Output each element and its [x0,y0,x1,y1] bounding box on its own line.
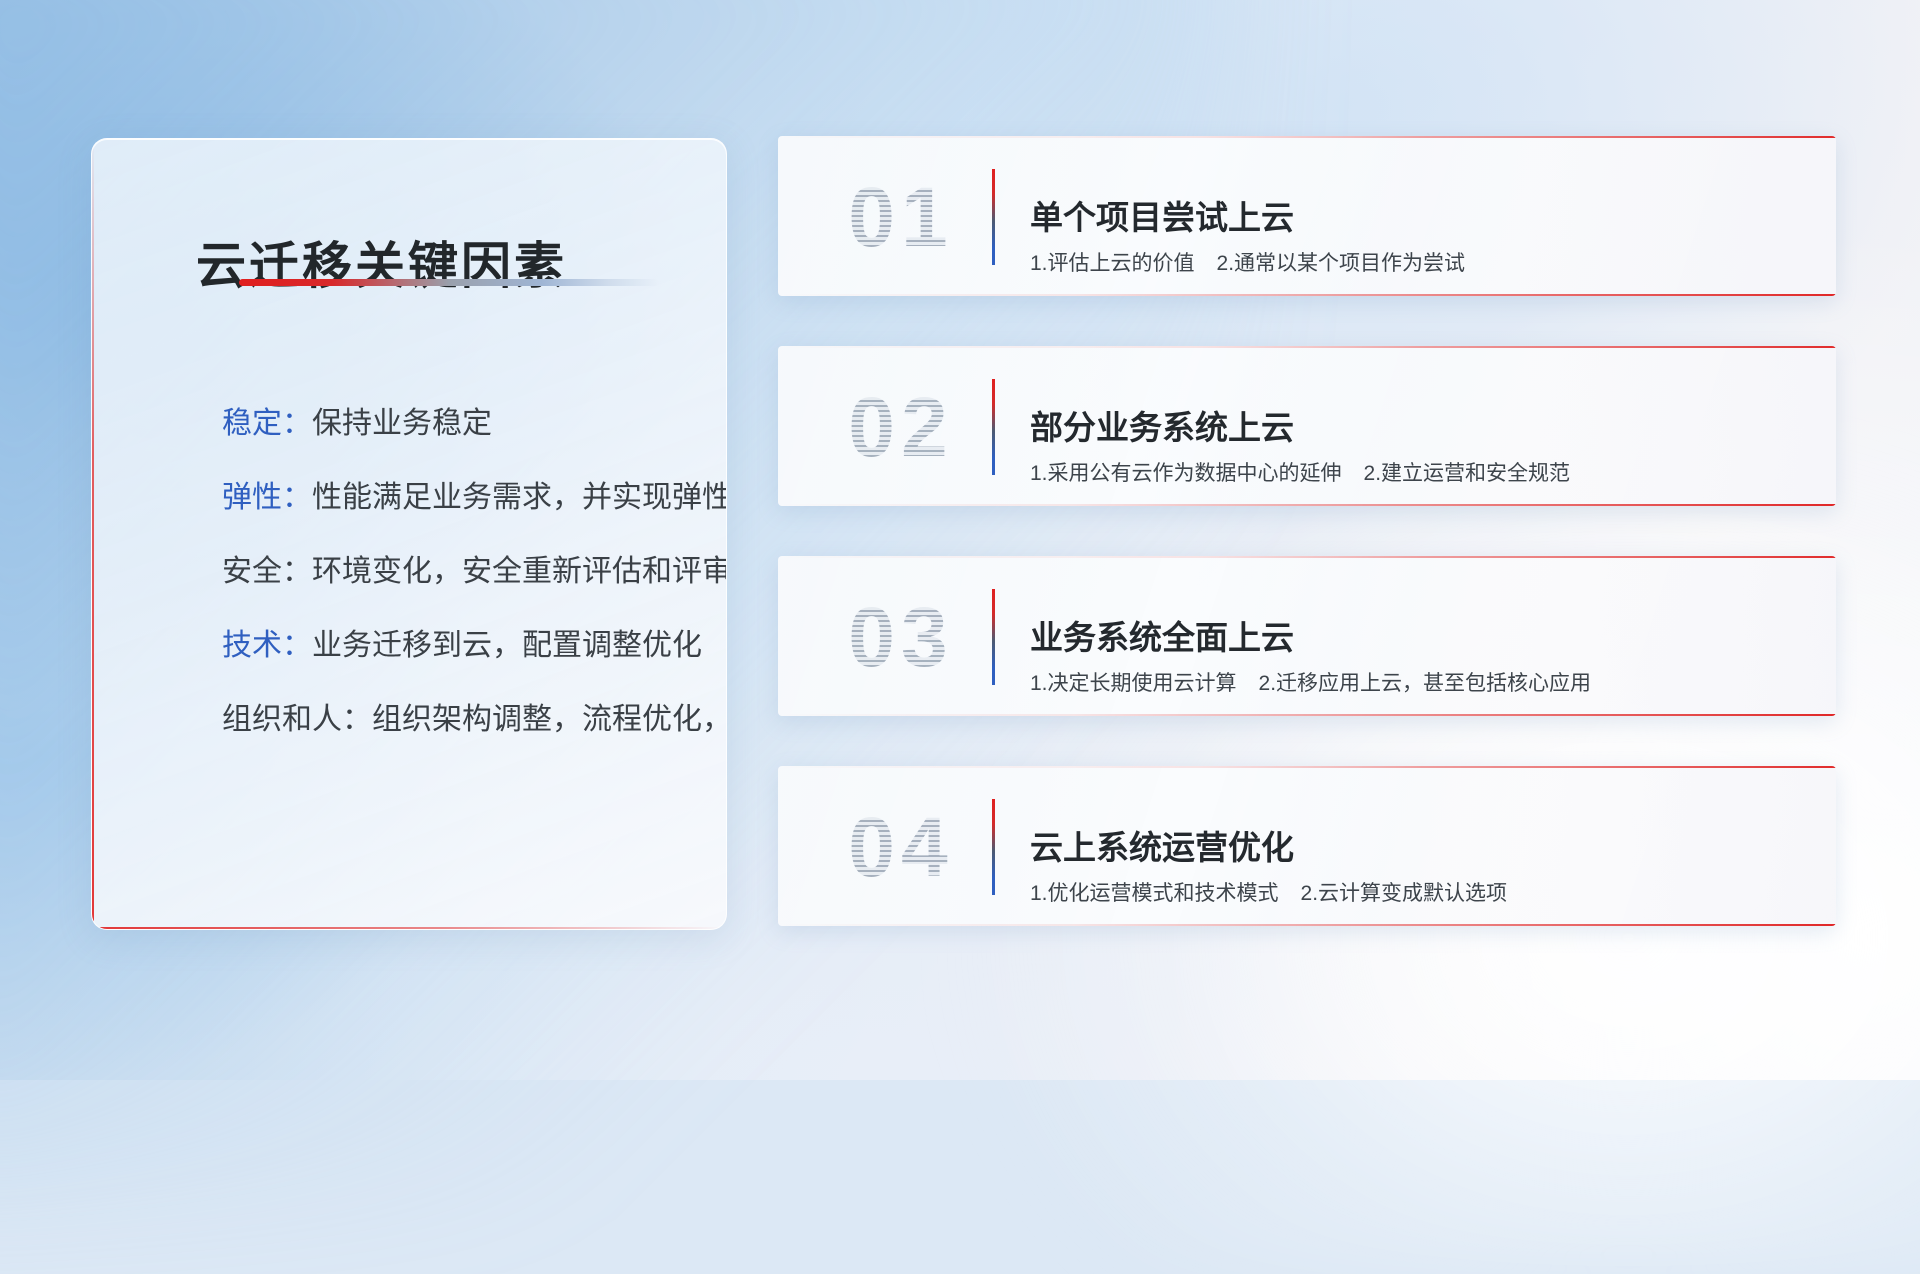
card-desc-item-2: 2.迁移应用上云，甚至包括核心应用 [1259,672,1592,695]
factor-item: 技术：业务迁移到云，配置调整优化 [222,609,686,683]
factor-text: 性能满足业务需求，并实现弹性 [312,481,727,514]
factor-label: 弹性： [222,481,312,514]
factor-item: 稳定：保持业务稳定 [222,387,686,461]
factor-text: 环境变化，安全重新评估和评审 [312,555,727,588]
card-description: 1.优化运营模式和技术模式2.云计算变成默认选项 [1030,877,1507,907]
stage-number: 03 [806,582,996,692]
card-accent-bar [992,799,995,895]
card-desc-item-2: 2.建立运营和安全规范 [1364,462,1571,485]
stage-number: 01 [806,162,996,272]
panel-title: 云迁移关键因素 [196,226,567,298]
card-accent-bar [992,589,995,685]
factor-item: 组织和人：组织架构调整，流程优化，人员技能培训 [222,683,686,757]
card-accent-bar [992,379,995,475]
card-desc-item-1: 1.评估上云的价值 [1030,252,1195,275]
card-desc-item-1: 1.优化运营模式和技术模式 [1030,882,1279,905]
card-title: 业务系统全面上云 [1030,611,1294,659]
factor-text: 业务迁移到云，配置调整优化 [312,629,702,662]
stage-card[interactable]: 0101单个项目尝试上云1.评估上云的价值2.通常以某个项目作为尝试 [778,136,1836,296]
factor-text: 保持业务稳定 [312,407,492,440]
card-title: 单个项目尝试上云 [1030,191,1294,239]
factor-text: 组织架构调整，流程优化，人员技能培训 [372,703,727,736]
stage-card[interactable]: 0303业务系统全面上云1.决定长期使用云计算2.迁移应用上云，甚至包括核心应用 [778,556,1836,716]
card-desc-item-1: 1.决定长期使用云计算 [1030,672,1237,695]
stage-card-list: 0101单个项目尝试上云1.评估上云的价值2.通常以某个项目作为尝试0202部分… [778,136,1836,976]
key-factors-panel: 云迁移关键因素 稳定：保持业务稳定弹性：性能满足业务需求，并实现弹性安全：环境变… [91,138,727,930]
card-desc-item-2: 2.通常以某个项目作为尝试 [1217,252,1466,275]
factor-label: 技术： [222,629,312,662]
card-accent-bar [992,169,995,265]
factor-item: 安全：环境变化，安全重新评估和评审 [222,535,686,609]
factor-label: 安全： [222,555,312,588]
stage-number: 02 [806,372,996,482]
card-title: 云上系统运营优化 [1030,821,1294,869]
slide-stage: 云迁移关键因素 稳定：保持业务稳定弹性：性能满足业务需求，并实现弹性安全：环境变… [0,0,1920,1080]
factor-label: 稳定： [222,407,312,440]
card-desc-item-1: 1.采用公有云作为数据中心的延伸 [1030,462,1342,485]
factor-item: 弹性：性能满足业务需求，并实现弹性 [222,461,686,535]
card-description: 1.采用公有云作为数据中心的延伸2.建立运营和安全规范 [1030,457,1570,487]
card-description: 1.决定长期使用云计算2.迁移应用上云，甚至包括核心应用 [1030,667,1591,697]
stage-number: 04 [806,792,996,902]
title-underline-rule [239,279,659,286]
factor-list: 稳定：保持业务稳定弹性：性能满足业务需求，并实现弹性安全：环境变化，安全重新评估… [222,387,686,757]
factor-label: 组织和人： [222,703,372,736]
stage-card[interactable]: 0202部分业务系统上云1.采用公有云作为数据中心的延伸2.建立运营和安全规范 [778,346,1836,506]
card-title: 部分业务系统上云 [1030,401,1294,449]
card-description: 1.评估上云的价值2.通常以某个项目作为尝试 [1030,247,1465,277]
stage-card[interactable]: 0404云上系统运营优化1.优化运营模式和技术模式2.云计算变成默认选项 [778,766,1836,926]
card-desc-item-2: 2.云计算变成默认选项 [1301,882,1508,905]
